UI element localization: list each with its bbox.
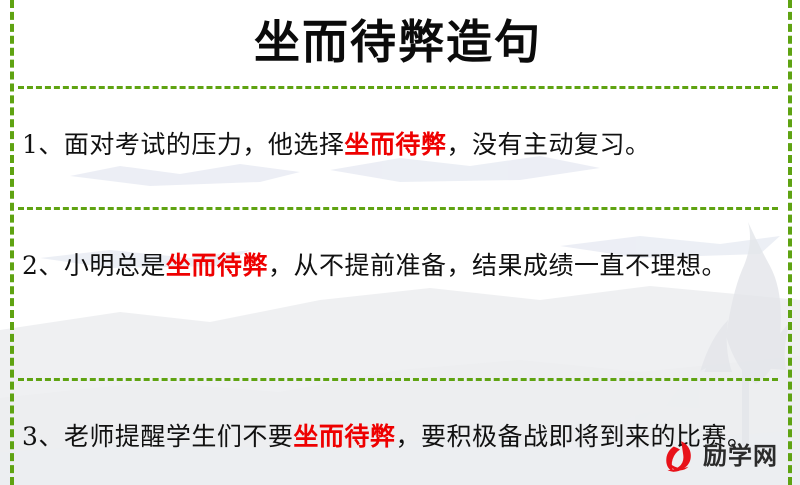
example-sentence-1: 1、面对考试的压力，他选择坐而待弊，没有主动复习。 [18,114,778,182]
sentence-1-number: 1、 [22,130,64,159]
sentence-2-number: 2、 [22,251,64,280]
sentence-2-prefix: 小明总是 [64,251,166,280]
sentence-example-page: 坐而待弊造句 1、面对考试的压力，他选择坐而待弊，没有主动复习。 2、小明总是坐… [0,0,800,485]
sentence-3-prefix: 老师提醒学生们不要 [64,422,294,451]
title-area: 坐而待弊造句 [18,0,778,86]
divider-2 [18,378,778,381]
sentence-2-suffix: ，从不提前准备，结果成绩一直不理想。 [268,251,727,280]
sentence-2-idiom: 坐而待弊 [166,251,268,280]
site-logo[interactable]: 励学网 [662,439,778,473]
swirl-flame-icon [662,439,696,473]
logo-text: 励学网 [703,444,778,468]
sentence-1-prefix: 面对考试的压力，他选择 [64,130,345,159]
divider-1 [18,207,778,210]
divider-top [18,86,778,89]
sentence-3-number: 3、 [22,422,64,451]
page-title: 坐而待弊造句 [18,14,778,72]
content-column: 坐而待弊造句 1、面对考试的压力，他选择坐而待弊，没有主动复习。 2、小明总是坐… [0,0,800,485]
sentence-3-idiom: 坐而待弊 [293,422,395,451]
sentence-1-suffix: ，没有主动复习。 [446,130,650,159]
sentence-1-idiom: 坐而待弊 [344,130,446,159]
example-sentence-2: 2、小明总是坐而待弊，从不提前准备，结果成绩一直不理想。 [18,235,778,353]
